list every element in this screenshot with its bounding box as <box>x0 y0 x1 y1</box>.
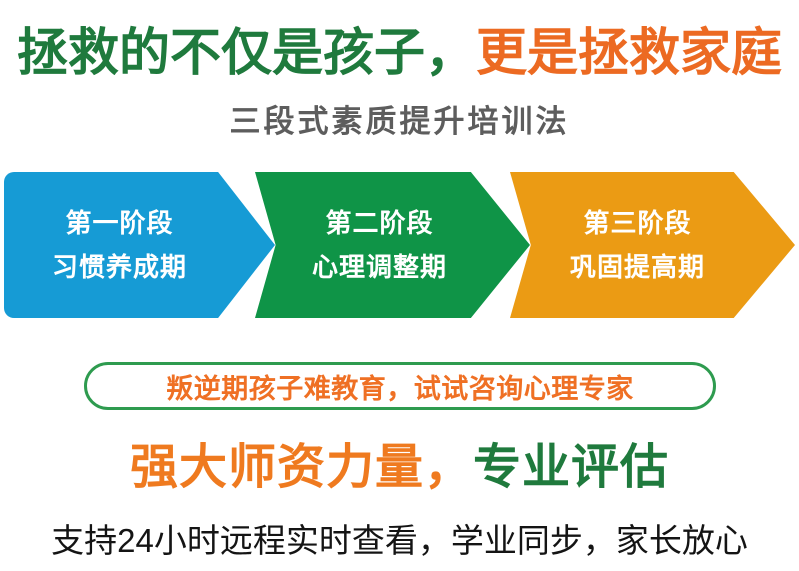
stage-flow-diagram: 第一阶段 习惯养成期 第二阶段 心理调整期 第三阶段 巩固提高期 <box>4 172 795 318</box>
stage-3-labels: 第三阶段 巩固提高期 <box>570 202 705 288</box>
secondary-headline-green-text: 专业评估 <box>473 441 669 494</box>
stage-2-subtitle: 心理调整期 <box>312 246 447 288</box>
footer-tagline: 支持24小时远程实时查看，学业同步，家长放心 <box>0 518 799 564</box>
stage-arrow-1: 第一阶段 习惯养成期 <box>4 172 275 318</box>
stage-1-subtitle: 习惯养成期 <box>52 246 187 288</box>
stage-1-labels: 第一阶段 习惯养成期 <box>52 202 187 288</box>
consult-callout-pill: 叛逆期孩子难教育，试试咨询心理专家 <box>84 362 716 410</box>
stage-arrow-2: 第二阶段 心理调整期 <box>255 172 530 318</box>
main-headline-orange-text: 更是拯救家庭 <box>476 24 782 81</box>
stage-2-labels: 第二阶段 心理调整期 <box>312 202 447 288</box>
stage-2-title: 第二阶段 <box>325 202 433 244</box>
subtitle: 三段式素质提升培训法 <box>0 102 799 142</box>
secondary-headline-orange-text: 强大师资力量， <box>130 441 473 494</box>
stage-3-subtitle: 巩固提高期 <box>570 246 705 288</box>
secondary-headline: 强大师资力量，专业评估 <box>0 438 799 498</box>
stage-1-title: 第一阶段 <box>65 202 173 244</box>
consult-callout-text: 叛逆期孩子难教育，试试咨询心理专家 <box>166 367 634 406</box>
stage-arrow-3: 第三阶段 巩固提高期 <box>510 172 795 318</box>
poster-canvas: 拯救的不仅是孩子，更是拯救家庭 三段式素质提升培训法 第一阶段 习惯养成期 第二… <box>0 0 799 571</box>
main-headline: 拯救的不仅是孩子，更是拯救家庭 <box>0 22 799 84</box>
stage-3-title: 第三阶段 <box>583 202 691 244</box>
main-headline-green-text: 拯救的不仅是孩子， <box>17 24 476 81</box>
